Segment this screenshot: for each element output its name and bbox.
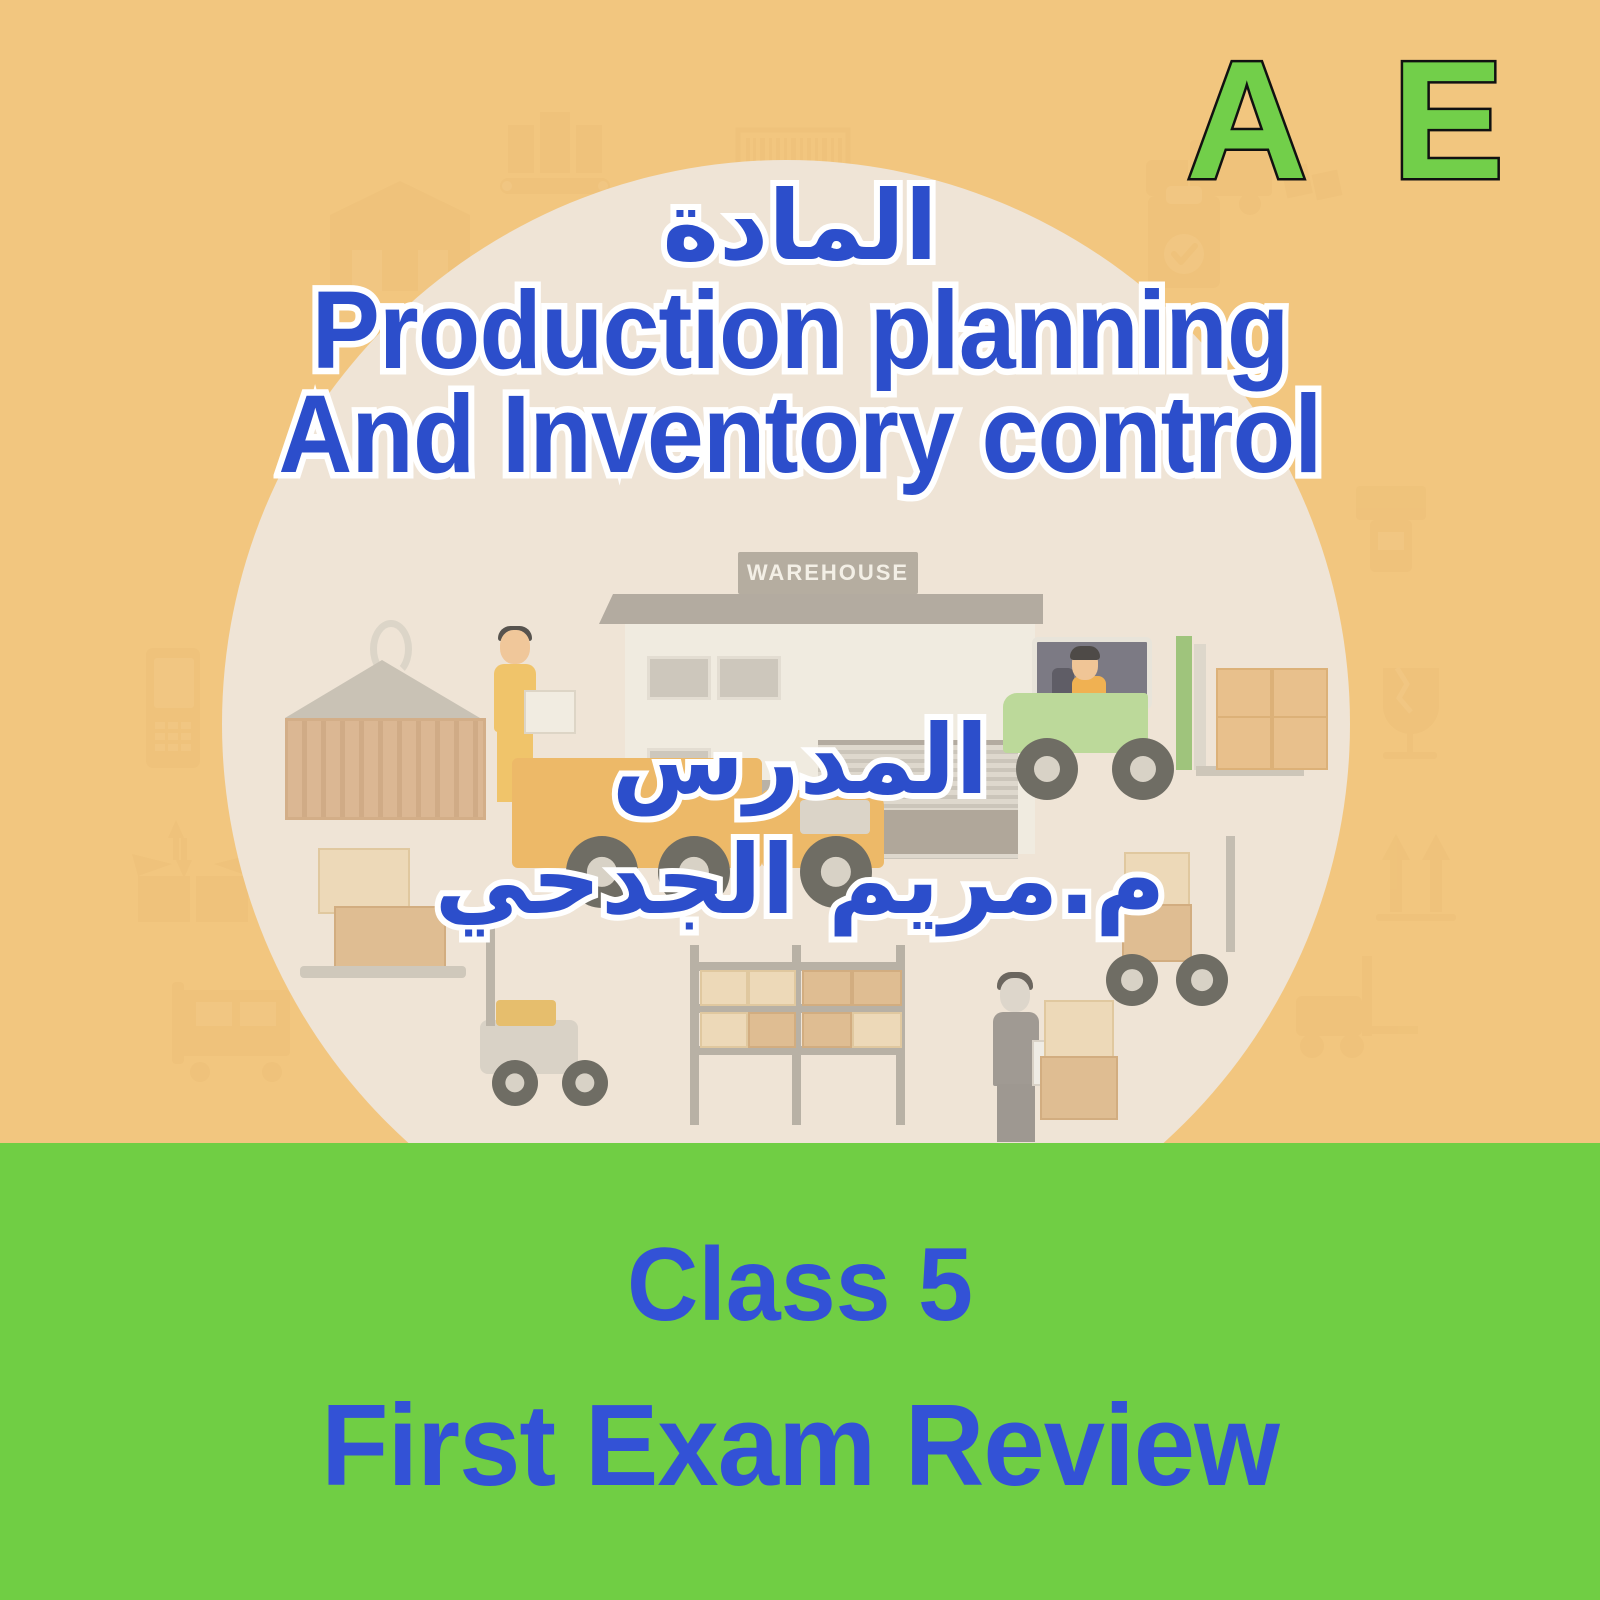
forklift-icon [1296, 956, 1418, 1058]
teacher-block: المدرس م.مريم الجدحي [0, 700, 1600, 940]
stacked-box [1040, 1056, 1118, 1120]
rack-box [748, 1012, 796, 1048]
rack-post [690, 945, 699, 1125]
cart-with-boxes-icon [172, 982, 290, 1082]
warehouse-window [717, 656, 781, 700]
rack-box [802, 1012, 852, 1048]
session-label: First Exam Review [40, 1387, 1560, 1503]
teacher-name: م.مريم الجدحي [0, 820, 1600, 940]
weight-scale-icon [1356, 486, 1426, 572]
subject-title-line1: Production planning [56, 276, 1544, 386]
bottom-green-panel: Class 5 First Exam Review [0, 1143, 1600, 1600]
rack-box [802, 970, 852, 1006]
rack-box [852, 1012, 902, 1048]
hand-truck-wheel [1106, 954, 1158, 1006]
inspector-legs [997, 1084, 1035, 1142]
pallet-jack-load [496, 1000, 556, 1026]
pallet-jack-handle [486, 928, 495, 1026]
ae-logo: A E [1186, 36, 1526, 204]
warehouse-window [647, 656, 711, 700]
subject-title-block: المادة Production planning And Inventory… [0, 178, 1600, 490]
warehouse-sign-label: WAREHOUSE [738, 552, 918, 594]
pallet-jack-wheel [562, 1060, 608, 1106]
rack-box [852, 970, 902, 1006]
footer-text-block: Class 5 First Exam Review [0, 1143, 1600, 1503]
course-title-slide: WAREHOUSE [0, 0, 1600, 1600]
forklift-driver-hair [1070, 646, 1100, 660]
inspector-head [1000, 978, 1030, 1012]
subject-title-line2: And Inventory control [56, 380, 1544, 490]
warehouse-roof [613, 594, 1043, 624]
rack-box [748, 970, 796, 1006]
rack-box [700, 970, 748, 1006]
class-label: Class 5 [40, 1233, 1560, 1337]
hand-truck-wheel [1176, 954, 1228, 1006]
weighing-platform [300, 966, 466, 978]
pallet-jack-wheel [492, 1060, 538, 1106]
stacked-box [1044, 1000, 1114, 1060]
warehouse-sign: WAREHOUSE [738, 552, 918, 594]
worker-head [500, 630, 530, 664]
rack-box [700, 1012, 748, 1048]
teacher-arabic-label: المدرس [0, 700, 1600, 820]
